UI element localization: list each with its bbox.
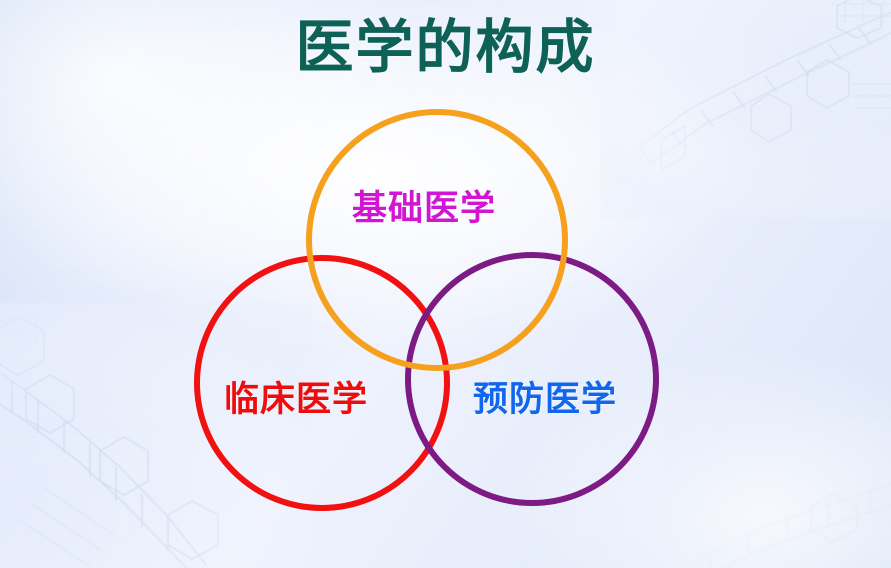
- presentation-slide: 医学的构成 基础医学 临床医学 预防医学: [0, 0, 891, 568]
- venn-diagram: [0, 0, 891, 568]
- venn-label-basic-medicine: 基础医学: [352, 180, 496, 231]
- venn-label-preventive-medicine: 预防医学: [473, 371, 617, 422]
- venn-label-clinical-medicine: 临床医学: [224, 371, 368, 422]
